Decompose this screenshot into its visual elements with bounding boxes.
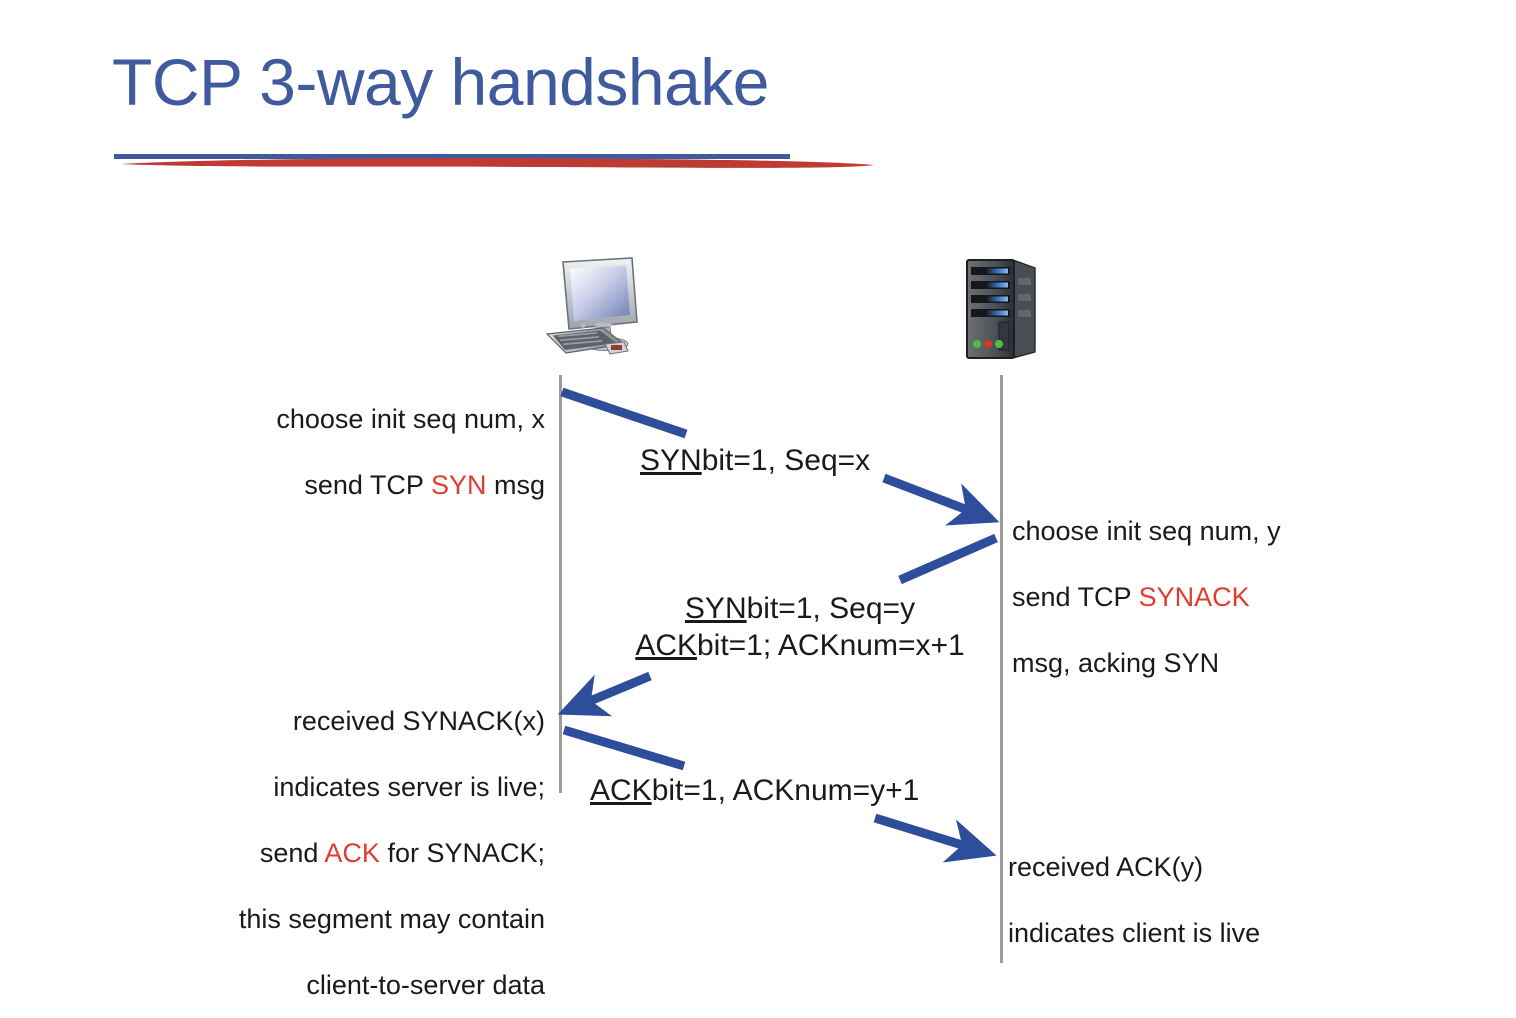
note-line: received ACK(y) xyxy=(1008,851,1338,884)
message-label-ack-underlined: ACK xyxy=(590,774,652,807)
note-line: this segment may contain xyxy=(180,903,545,936)
title-brushstroke xyxy=(118,156,878,169)
message-label-synack-line1-rest: bit=1, Seq=y xyxy=(747,592,915,625)
note-client-received-synack: received SYNACK(x) indicates server is l… xyxy=(180,672,545,1018)
desktop-computer-icon xyxy=(540,256,650,364)
note-client-send-syn: choose init seq num, x send TCP SYN msg xyxy=(200,370,545,535)
arrow-ack-segment-b xyxy=(875,818,988,853)
note-line: choose init seq num, x xyxy=(200,403,545,436)
arrow-synack-segment-b xyxy=(566,676,650,711)
note-line: received SYNACK(x) xyxy=(180,705,545,738)
message-label-synack-line2: ACKbit=1; ACKnum=x+1 xyxy=(600,627,1000,664)
note-server-send-synack: choose init seq num, y send TCP SYNACK m… xyxy=(1012,482,1352,713)
note-highlight-synack: SYNACK xyxy=(1139,582,1250,612)
arrow-syn-segment-a xyxy=(562,392,686,434)
note-line: choose init seq num, y xyxy=(1012,515,1352,548)
note-line: indicates client is live xyxy=(1008,917,1338,950)
arrow-syn-segment-b xyxy=(884,478,991,519)
page-title: TCP 3-way handshake xyxy=(112,44,769,120)
message-label-synack-line2-rest: bit=1; ACKnum=x+1 xyxy=(697,629,965,662)
message-label-syn: SYNbit=1, Seq=x xyxy=(640,442,870,479)
client-lifeline xyxy=(559,375,562,793)
note-highlight-ack: ACK xyxy=(324,838,380,868)
note-server-received-ack: received ACK(y) indicates client is live xyxy=(1008,818,1338,983)
note-text: msg xyxy=(486,470,545,500)
note-line: msg, acking SYN xyxy=(1012,647,1352,680)
message-label-syn-rest: bit=1, Seq=x xyxy=(702,444,870,477)
message-label-synack-line1: SYNbit=1, Seq=y xyxy=(600,590,1000,627)
note-text: send xyxy=(260,838,325,868)
note-text: for SYNACK; xyxy=(380,838,545,868)
note-line: send TCP SYN msg xyxy=(200,469,545,502)
note-line: client-to-server data xyxy=(180,969,545,1002)
arrow-ack-segment-a xyxy=(564,730,684,766)
note-highlight-syn: SYN xyxy=(431,470,487,500)
message-label-synack-line2-underlined: ACK xyxy=(635,629,697,662)
note-text: send TCP xyxy=(304,470,431,500)
note-text: send TCP xyxy=(1012,582,1139,612)
message-label-ack: ACKbit=1, ACKnum=y+1 xyxy=(590,772,919,809)
title-block: TCP 3-way handshake xyxy=(112,44,912,152)
message-label-synack: SYNbit=1, Seq=y ACKbit=1; ACKnum=x+1 xyxy=(600,590,1000,664)
arrow-synack-segment-a xyxy=(900,538,996,580)
server-lifeline xyxy=(1000,375,1003,963)
slide-canvas: TCP 3-way handshake xyxy=(0,0,1516,1018)
server-tower-icon xyxy=(955,256,1047,364)
note-line: send ACK for SYNACK; xyxy=(180,837,545,870)
message-label-synack-line1-underlined: SYN xyxy=(685,592,747,625)
note-line: send TCP SYNACK xyxy=(1012,581,1352,614)
message-label-ack-rest: bit=1, ACKnum=y+1 xyxy=(652,774,920,807)
note-line: indicates server is live; xyxy=(180,771,545,804)
message-label-syn-underlined: SYN xyxy=(640,444,702,477)
